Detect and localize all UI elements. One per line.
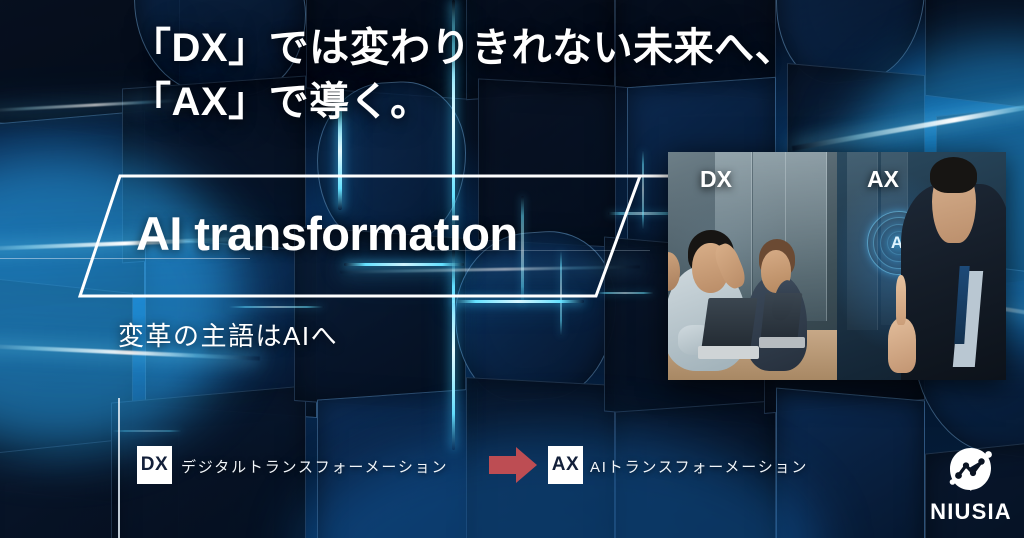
subtitle: 変革の主語はAIへ <box>118 316 338 353</box>
arrow-right-icon <box>487 445 539 485</box>
label-dx: デジタルトランスフォーメーション <box>181 456 448 477</box>
chip-ax: AX <box>548 446 583 484</box>
photo-right-ax-scene: AI <box>837 152 1006 380</box>
vertical-divider <box>118 398 120 538</box>
ai-transformation-band: AI transformation <box>80 172 640 300</box>
brand-logo: NIUSIA <box>930 447 1012 527</box>
chip-dx: DX <box>137 446 172 484</box>
logo-wordmark: NIUSIA <box>930 499 1012 525</box>
ax-promo-banner: 「DX」では変わりきれない未来へ、 「AX」で導く。 AI transforma… <box>0 0 1024 538</box>
photo-left-dx-scene <box>668 152 837 380</box>
photo-tag-dx: DX <box>700 166 732 193</box>
comparison-photo: AI DX AX <box>668 152 1006 380</box>
headline: 「DX」では変わりきれない未来へ、 「AX」で導く。 <box>131 21 795 129</box>
niusia-mark-icon <box>947 447 995 493</box>
label-ax: AIトランスフォーメーション <box>590 456 808 477</box>
photo-tag-ax: AX <box>867 166 899 193</box>
band-title: AI transformation <box>136 206 518 261</box>
